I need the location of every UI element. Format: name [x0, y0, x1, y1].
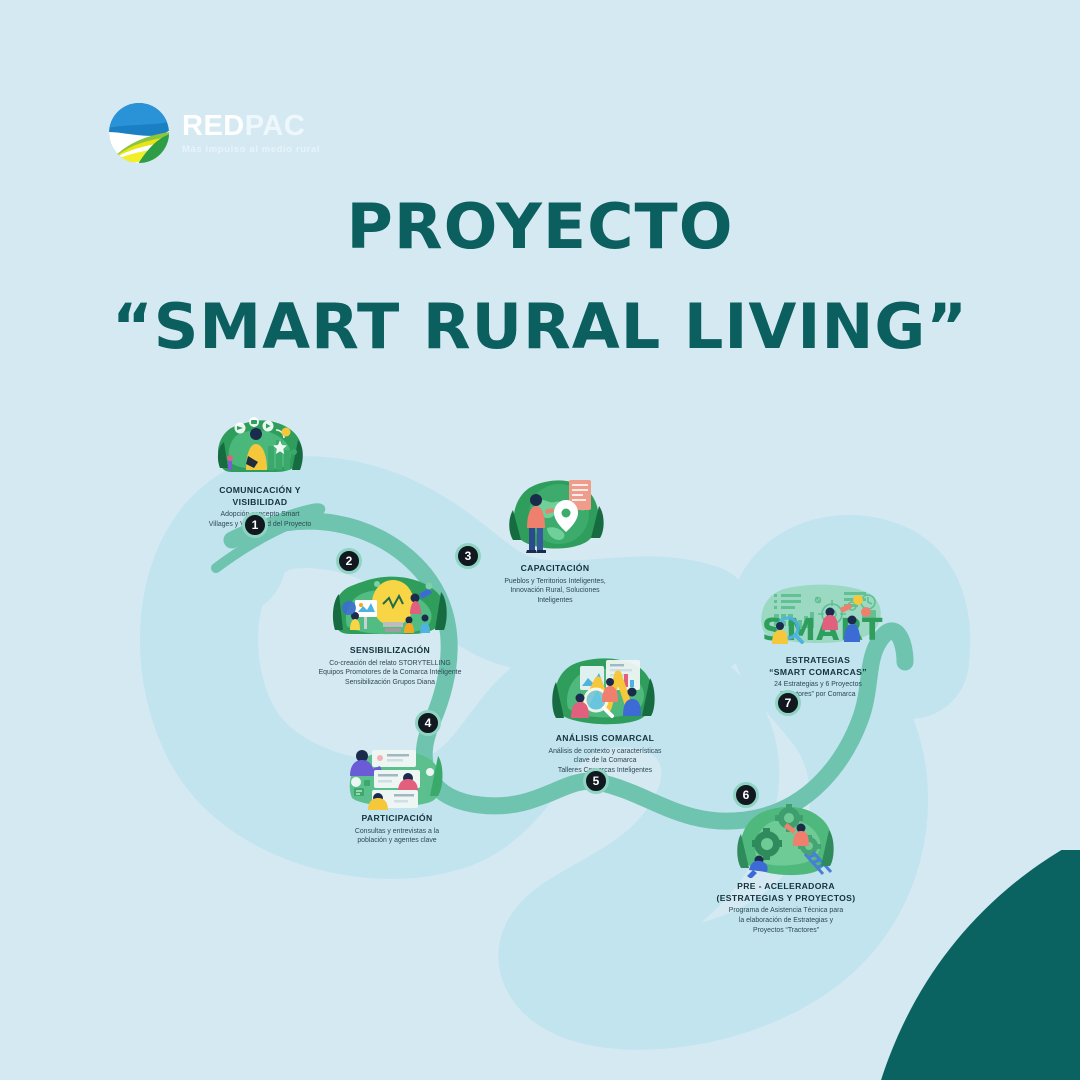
logo-text: REDPAC Más impulso al medio rural	[182, 112, 320, 155]
stage-4-badge[interactable]: 4	[415, 710, 441, 736]
stage-5-badge[interactable]: 5	[583, 768, 609, 794]
participation-interview-illustration	[342, 742, 452, 810]
stage-3-badge[interactable]: 3	[455, 543, 481, 569]
training-globe-illustration	[503, 470, 608, 560]
redpac-globe-logo-icon	[108, 102, 170, 164]
stage-3-description: Pueblos y Territorios Inteligentes, Inno…	[460, 577, 650, 606]
stage-5-number: 5	[593, 774, 600, 788]
stage-2-title: SENSIBILIZACIÓN	[275, 645, 505, 657]
stage-5-title: ANÁLISIS COMARCAL	[510, 733, 700, 745]
stage-4[interactable]: PARTICIPACIÓN Consultas y entrevistas a …	[312, 742, 482, 846]
stage-7-badge[interactable]: 7	[775, 690, 801, 716]
communication-visibility-illustration	[210, 412, 310, 482]
stage-2-number: 2	[346, 554, 353, 568]
stage-3[interactable]: CAPACITACIÓN Pueblos y Territorios Intel…	[460, 470, 650, 606]
stage-6-badge[interactable]: 6	[733, 782, 759, 808]
stage-2-description: Co-creación del relato STORYTELLING Equi…	[275, 659, 505, 688]
stage-1-number: 1	[252, 518, 259, 532]
svg-text:T: T	[862, 613, 883, 648]
stage-6-description: Programa de Asistencia Técnica para la e…	[700, 906, 872, 935]
stage-4-number: 4	[425, 716, 432, 730]
stage-6[interactable]: PRE - ACELERADORA (ESTRATEGIAS Y PROYECT…	[700, 800, 872, 936]
redpac-logo[interactable]: REDPAC Más impulso al medio rural	[108, 100, 398, 166]
corner-arc-decoration	[870, 820, 1080, 1080]
analysis-magnifier-chart-illustration	[546, 652, 664, 730]
stage-6-title: PRE - ACELERADORA (ESTRATEGIAS Y PROYECT…	[700, 881, 872, 904]
page-title: PROYECTO “SMART RURAL LIVING”	[0, 196, 1080, 358]
stage-4-title: PARTICIPACIÓN	[312, 813, 482, 825]
logo-wordmark: REDPAC	[182, 112, 320, 141]
pre-accelerator-gears-ladder-illustration	[731, 800, 841, 878]
stage-1-badge[interactable]: 1	[242, 512, 268, 538]
stage-6-number: 6	[743, 788, 750, 802]
stage-7[interactable]: SMART ESTRATEGIAS “SMART COMARCAS” 24 Es…	[730, 580, 906, 700]
stage-1-title: COMUNICACIÓN Y VISIBILIDAD	[180, 485, 340, 508]
stage-7-number: 7	[785, 696, 792, 710]
stage-5[interactable]: ANÁLISIS COMARCAL Análisis de contexto y…	[510, 652, 700, 776]
stage-7-description: 24 Estrategias y 6 Proyectos “Tractores”…	[730, 680, 906, 700]
stage-3-title: CAPACITACIÓN	[460, 563, 650, 575]
infographic-canvas: REDPAC Más impulso al medio rural PROYEC…	[0, 0, 1080, 1080]
stage-7-title: ESTRATEGIAS “SMART COMARCAS”	[730, 655, 906, 678]
awareness-lightbulb-illustration	[325, 570, 455, 642]
stage-2-badge[interactable]: 2	[336, 548, 362, 574]
title-line-1: PROYECTO	[0, 196, 1080, 258]
logo-tagline: Más impulso al medio rural	[182, 145, 320, 155]
stage-3-number: 3	[465, 549, 472, 563]
smart-comarcas-dashboard-illustration: SMART	[748, 580, 888, 652]
title-line-2: “SMART RURAL LIVING”	[0, 296, 1080, 358]
stage-4-description: Consultas y entrevistas a la población y…	[312, 827, 482, 847]
